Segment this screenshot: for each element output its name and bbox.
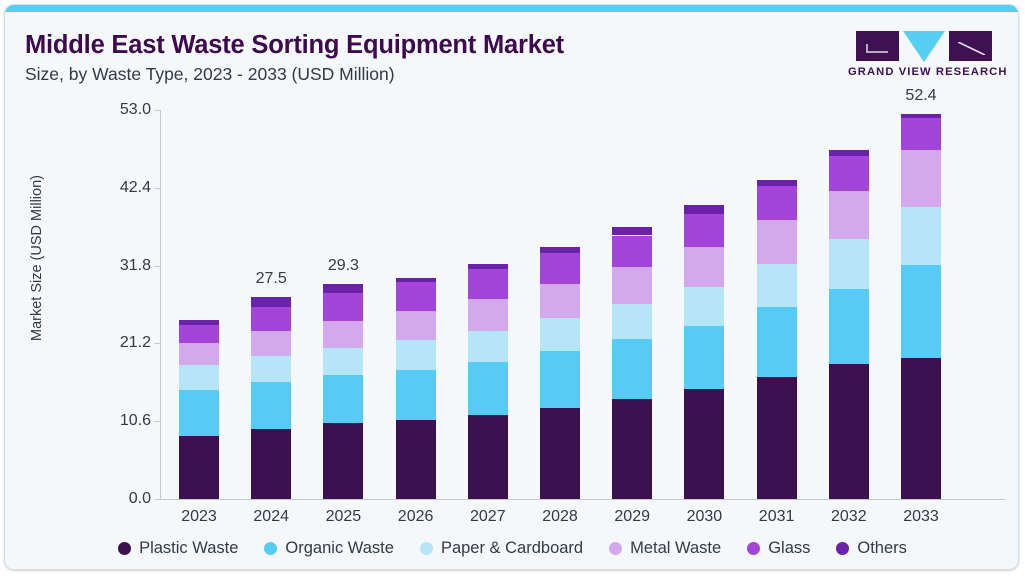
bar-segment[interactable] <box>251 356 291 382</box>
bar-segment[interactable] <box>323 321 363 348</box>
legend-color-swatch-icon <box>836 542 849 555</box>
bar-value-label: 27.5 <box>231 270 311 288</box>
bar-group[interactable]: 2032 <box>829 5 869 499</box>
legend-item[interactable]: Paper & Cardboard <box>420 539 583 558</box>
legend-color-swatch-icon <box>609 542 622 555</box>
bar-segment[interactable] <box>901 114 941 118</box>
bar-value-label: 29.3 <box>303 257 383 275</box>
bar-segment[interactable] <box>251 429 291 499</box>
y-axis-tick-label: 0.0 <box>95 490 151 508</box>
bar-segment[interactable] <box>251 382 291 430</box>
bar-segment[interactable] <box>468 264 508 269</box>
bar-segment[interactable] <box>901 207 941 265</box>
legend-color-swatch-icon <box>420 542 433 555</box>
bar-segment[interactable] <box>612 236 652 268</box>
bar-segment[interactable] <box>612 267 652 304</box>
bar-segment[interactable] <box>684 326 724 389</box>
bar-segment[interactable] <box>684 247 724 287</box>
bar-segment[interactable] <box>179 325 219 343</box>
y-axis-tick-label: 31.8 <box>95 257 151 275</box>
bar-segment[interactable] <box>179 436 219 499</box>
x-axis-tick-label: 2029 <box>592 508 672 526</box>
bar-segment[interactable] <box>468 331 508 362</box>
bar-group[interactable]: 2029 <box>612 5 652 499</box>
chart-card: Middle East Waste Sorting Equipment Mark… <box>4 4 1019 570</box>
bar-segment[interactable] <box>829 289 869 364</box>
legend-item[interactable]: Others <box>836 539 907 558</box>
x-axis-tick-label: 2028 <box>520 508 600 526</box>
bar-segment[interactable] <box>323 284 363 293</box>
legend-item[interactable]: Metal Waste <box>609 539 721 558</box>
bar-segment[interactable] <box>540 408 580 499</box>
bar-segment[interactable] <box>468 415 508 499</box>
x-axis-tick-label: 2023 <box>159 508 239 526</box>
y-axis-tick-label: 21.2 <box>95 334 151 352</box>
bar-segment[interactable] <box>540 253 580 284</box>
bar-group[interactable]: 2023 <box>179 5 219 499</box>
chart-legend: Plastic WasteOrganic WastePaper & Cardbo… <box>5 539 1019 558</box>
bar-group[interactable]: 2027 <box>468 5 508 499</box>
legend-label: Others <box>857 539 907 558</box>
bar-segment[interactable] <box>757 180 797 186</box>
bar-group[interactable]: 2026 <box>396 5 436 499</box>
stacked-bar-chart: Market Size (USD Million) 0.010.621.231.… <box>5 5 1019 570</box>
legend-label: Plastic Waste <box>139 539 238 558</box>
x-axis-tick-label: 2031 <box>737 508 817 526</box>
bar-segment[interactable] <box>396 420 436 499</box>
bar-segment[interactable] <box>179 390 219 436</box>
x-axis-tick-label: 2027 <box>448 508 528 526</box>
bar-segment[interactable] <box>396 311 436 340</box>
legend-label: Organic Waste <box>285 539 394 558</box>
y-axis-tick-mark <box>154 266 160 267</box>
bar-segment[interactable] <box>251 307 291 331</box>
bar-segment[interactable] <box>757 220 797 264</box>
x-axis-tick-label: 2026 <box>376 508 456 526</box>
x-axis-line <box>160 499 1005 500</box>
y-axis-title: Market Size (USD Million) <box>29 133 45 383</box>
legend-color-swatch-icon <box>264 542 277 555</box>
bar-segment[interactable] <box>901 358 941 499</box>
x-axis-tick-label: 2024 <box>231 508 311 526</box>
bar-segment[interactable] <box>396 278 436 282</box>
bar-segment[interactable] <box>901 150 941 207</box>
y-axis-tick-mark <box>154 188 160 189</box>
bar-segment[interactable] <box>684 214 724 247</box>
bar-group[interactable]: 2030 <box>684 5 724 499</box>
bar-value-label: 52.4 <box>881 87 961 105</box>
bar-segment[interactable] <box>829 191 869 239</box>
x-axis-tick-label: 2025 <box>303 508 383 526</box>
bar-segment[interactable] <box>179 320 219 325</box>
bar-segment[interactable] <box>396 340 436 369</box>
bar-segment[interactable] <box>684 287 724 326</box>
bar-segment[interactable] <box>540 247 580 253</box>
legend-label: Metal Waste <box>630 539 721 558</box>
bar-segment[interactable] <box>829 364 869 499</box>
bar-segment[interactable] <box>612 304 652 339</box>
y-axis-tick-label: 53.0 <box>95 101 151 119</box>
bar-segment[interactable] <box>540 284 580 318</box>
legend-color-swatch-icon <box>747 542 760 555</box>
bar-segment[interactable] <box>468 299 508 331</box>
bar-segment[interactable] <box>757 377 797 499</box>
y-axis-line <box>160 110 161 499</box>
bar-segment[interactable] <box>612 399 652 499</box>
bar-segment[interactable] <box>757 307 797 377</box>
bar-segment[interactable] <box>323 375 363 423</box>
bar-segment[interactable] <box>612 339 652 399</box>
y-axis-tick-label: 42.4 <box>95 179 151 197</box>
bar-segment[interactable] <box>540 351 580 408</box>
y-axis-tick-mark <box>154 421 160 422</box>
x-axis-tick-label: 2030 <box>664 508 744 526</box>
bar-segment[interactable] <box>684 205 724 214</box>
legend-item[interactable]: Plastic Waste <box>118 539 238 558</box>
bar-segment[interactable] <box>829 239 869 289</box>
bar-segment[interactable] <box>251 331 291 356</box>
bar-segment[interactable] <box>323 293 363 321</box>
bar-segment[interactable] <box>396 370 436 420</box>
bar-group[interactable]: 27.52024 <box>251 5 291 499</box>
bar-segment[interactable] <box>323 423 363 499</box>
y-axis-tick-mark <box>154 343 160 344</box>
legend-label: Glass <box>768 539 810 558</box>
bar-segment[interactable] <box>468 362 508 415</box>
bar-segment[interactable] <box>684 389 724 499</box>
bar-segment[interactable] <box>323 348 363 375</box>
bar-group[interactable]: 2031 <box>757 5 797 499</box>
legend-color-swatch-icon <box>118 542 131 555</box>
bar-segment[interactable] <box>179 365 219 389</box>
y-axis-tick-label: 10.6 <box>95 412 151 430</box>
bar-segment[interactable] <box>251 297 291 307</box>
bar-segment[interactable] <box>829 156 869 191</box>
y-axis-tick-mark <box>154 110 160 111</box>
bar-segment[interactable] <box>396 282 436 311</box>
bar-group[interactable]: 52.42033 <box>901 5 941 499</box>
legend-item[interactable]: Organic Waste <box>264 539 394 558</box>
bar-segment[interactable] <box>540 318 580 351</box>
bar-group[interactable]: 2028 <box>540 5 580 499</box>
bar-segment[interactable] <box>901 265 941 358</box>
bar-segment[interactable] <box>829 150 869 157</box>
legend-item[interactable]: Glass <box>747 539 810 558</box>
bar-segment[interactable] <box>179 343 219 366</box>
y-axis-tick-mark <box>154 499 160 500</box>
x-axis-tick-label: 2032 <box>809 508 889 526</box>
bar-segment[interactable] <box>757 186 797 220</box>
bar-segment[interactable] <box>468 269 508 299</box>
legend-label: Paper & Cardboard <box>441 539 583 558</box>
x-axis-tick-label: 2033 <box>881 508 961 526</box>
bar-segment[interactable] <box>612 227 652 235</box>
bar-group[interactable]: 29.32025 <box>323 5 363 499</box>
bar-segment[interactable] <box>901 118 941 150</box>
bar-segment[interactable] <box>757 264 797 307</box>
